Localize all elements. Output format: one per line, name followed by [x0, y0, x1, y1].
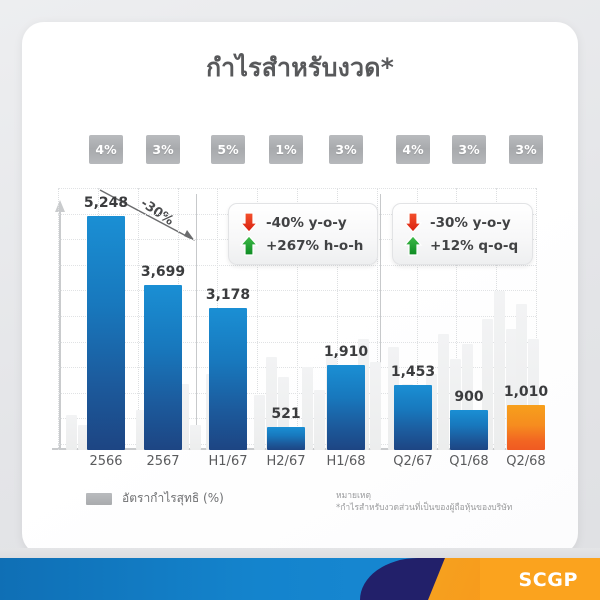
bar-Q1-68	[450, 410, 488, 450]
callout-row: -40% y-o-y	[239, 211, 363, 234]
background-decorative-bar	[254, 395, 265, 450]
grid-line-vertical	[58, 188, 59, 450]
callout-half-year: -40% y-o-y +267% h-o-h	[228, 203, 378, 265]
callout-row: +267% h-o-h	[239, 234, 363, 257]
margin-badge-Q2-67: 4%	[396, 135, 430, 164]
grid-line-horizontal	[58, 188, 536, 189]
margin-badge-2567: 3%	[146, 135, 180, 164]
bar-value-label: 1,910	[306, 344, 386, 360]
legend-label: อัตรากำไรสุทธิ (%)	[122, 489, 224, 508]
footnote-body: *กำไรสำหรับงวดส่วนที่เป็นของผู้ถือหุ้นขอ…	[336, 502, 546, 514]
infographic-root: กำไรสำหรับงวด* 4%3%5%1%3%4%3%3% -30% 5,2…	[0, 0, 600, 600]
y-axis-arrow-icon	[54, 200, 66, 450]
bar-value-label: 3,178	[188, 287, 268, 303]
grid-line-horizontal	[58, 290, 536, 291]
footnote-heading: หมายเหตุ	[336, 490, 546, 502]
background-decorative-bar	[66, 415, 77, 450]
bar-value-label: 1,453	[373, 364, 453, 380]
bar-H1-67	[209, 308, 247, 450]
background-decorative-bar	[190, 425, 201, 450]
x-axis-labels: 25662567H1/67H2/67H1/68Q2/67Q1/68Q2/68	[58, 454, 536, 476]
grid-line-horizontal	[58, 316, 536, 317]
grid-line-horizontal	[58, 342, 536, 343]
callout-quarter: -30% y-o-y +12% q-o-q	[392, 203, 533, 265]
callout-text: +12% q-o-q	[430, 238, 518, 254]
bar-Q2-67	[394, 385, 432, 450]
background-decorative-bar	[494, 291, 505, 450]
margin-badge-Q2-68: 3%	[509, 135, 543, 164]
x-axis-label-H1-68: H1/68	[327, 454, 366, 469]
margin-badge-H1-67: 5%	[211, 135, 245, 164]
legend-swatch-margin	[86, 493, 112, 505]
bar-value-label: 521	[246, 406, 326, 422]
footnote: หมายเหตุ *กำไรสำหรับงวดส่วนที่เป็นของผู้…	[336, 490, 546, 515]
callout-text: -40% y-o-y	[266, 215, 347, 231]
arrow-up-icon	[239, 235, 259, 256]
bar-H1-68	[327, 365, 365, 450]
group-separator	[196, 194, 197, 450]
legend: อัตรากำไรสุทธิ (%)	[86, 489, 224, 508]
callout-row: -30% y-o-y	[403, 211, 518, 234]
x-axis-label-2566: 2566	[89, 454, 122, 469]
x-axis-label-Q1-68: Q1/68	[449, 454, 488, 469]
bar-value-label: 3,699	[123, 264, 203, 280]
margin-badge-Q1-68: 3%	[452, 135, 486, 164]
bar-value-label: 5,248	[66, 195, 146, 211]
arrow-down-icon	[239, 212, 259, 233]
callout-text: -30% y-o-y	[430, 215, 511, 231]
arrow-up-icon	[403, 235, 423, 256]
bar-2566	[87, 216, 125, 450]
margin-badge-H2-67: 1%	[269, 135, 303, 164]
x-axis-label-H2-67: H2/67	[267, 454, 306, 469]
bar-Q2-68	[507, 405, 545, 450]
brand-bar: SCGP	[0, 558, 600, 600]
bar-value-label: 1,010	[486, 384, 566, 400]
bar-2567	[144, 285, 182, 450]
brand-bar-top-edge	[0, 548, 600, 558]
callout-row: +12% q-o-q	[403, 234, 518, 257]
x-axis-label-2567: 2567	[146, 454, 179, 469]
x-axis-label-Q2-67: Q2/67	[393, 454, 432, 469]
arrow-down-icon	[403, 212, 423, 233]
x-axis-label-Q2-68: Q2/68	[506, 454, 545, 469]
page-title: กำไรสำหรับงวด*	[0, 48, 600, 88]
margin-badge-row: 4%3%5%1%3%4%3%3%	[0, 135, 600, 165]
brand-logo-text: SCGP	[518, 569, 578, 591]
margin-badge-H1-68: 3%	[329, 135, 363, 164]
x-axis-label-H1-67: H1/67	[209, 454, 248, 469]
callout-text: +267% h-o-h	[266, 238, 363, 254]
margin-badge-2566: 4%	[89, 135, 123, 164]
bar-H2-67	[267, 427, 305, 450]
